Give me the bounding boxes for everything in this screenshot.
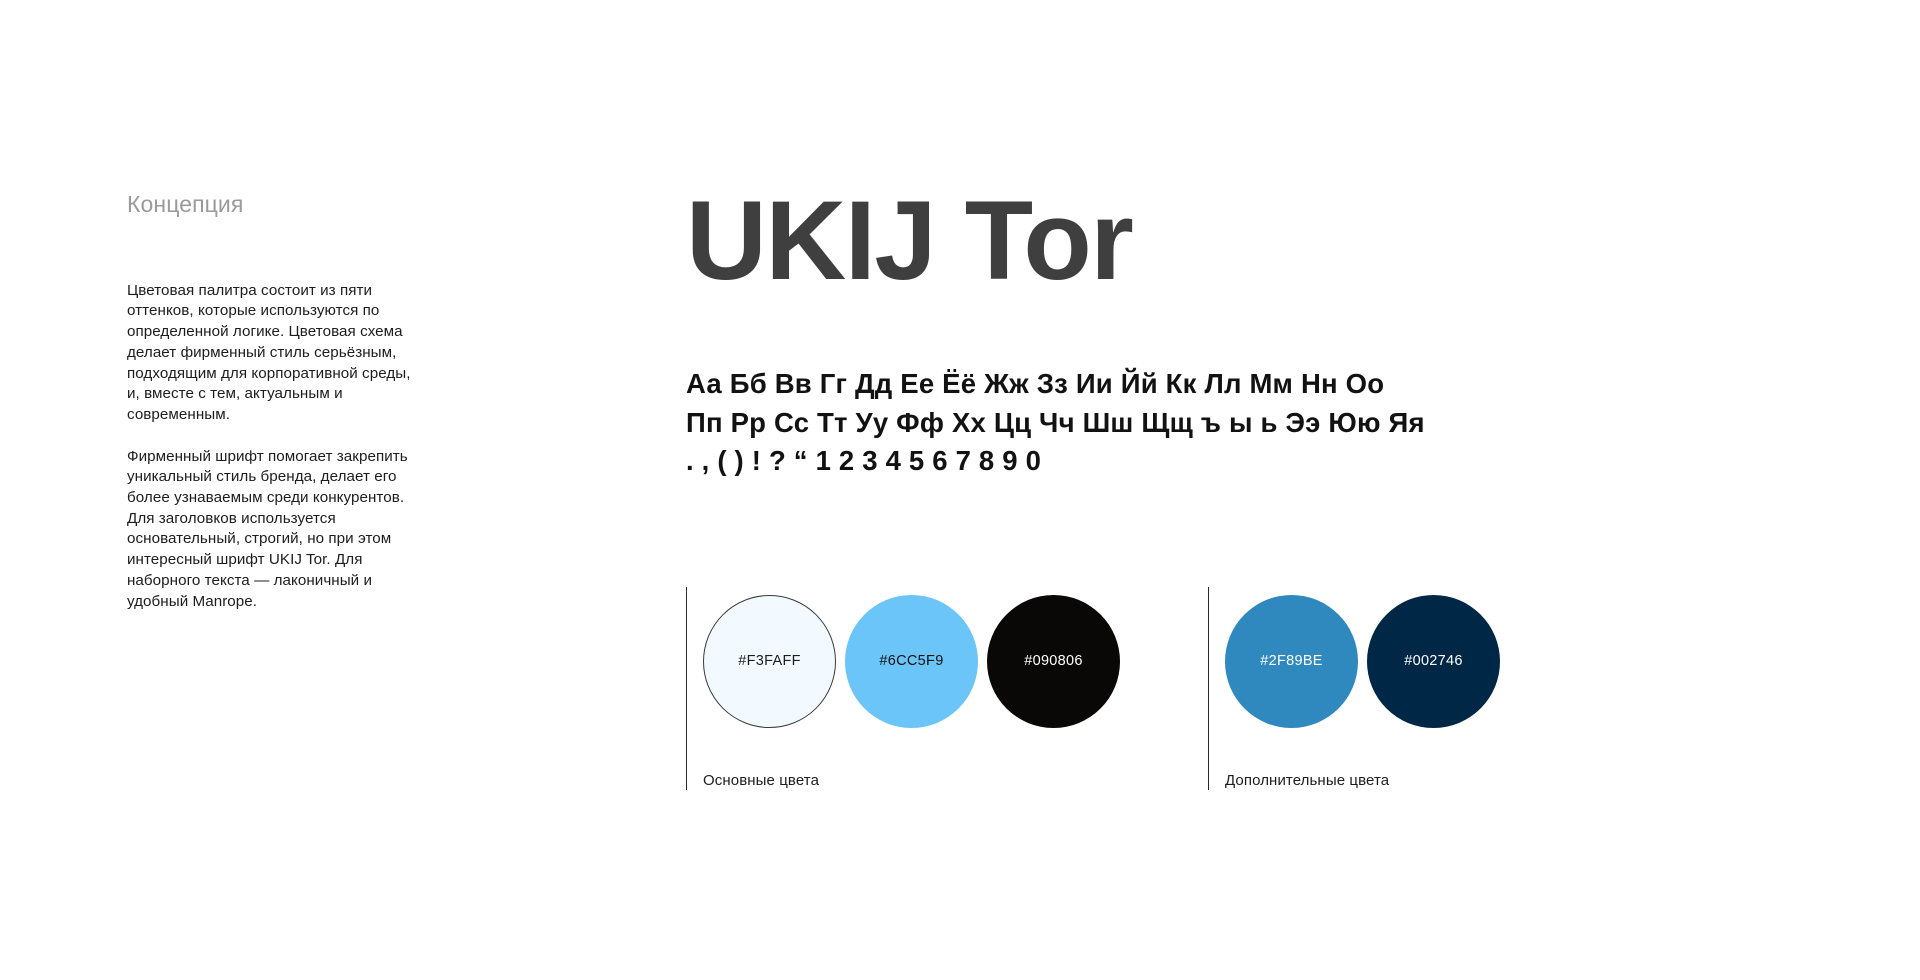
specimen-line-uppercase-1: Аа Бб Вв Гг Дд Ее Ёё Жж Зз Ии Йй Кк Лл М… — [686, 365, 1866, 404]
section-eyebrow: Концепция — [127, 190, 417, 219]
concept-paragraph-2: Фирменный шрифт помогает закрепить уника… — [127, 447, 417, 613]
typeface-specimen: Аа Бб Вв Гг Дд Ее Ёё Жж Зз Ии Йй Кк Лл М… — [686, 365, 1866, 481]
color-swatch-label: #090806 — [1024, 654, 1083, 669]
palette-group-secondary: #2F89BE #002746 Дополнительные цвета — [1208, 587, 1500, 790]
specimen-line-uppercase-2: Пп Рр Сс Тт Уу Фф Хх Цц Чч Шш Щщ ъ ы ь Э… — [686, 404, 1866, 443]
brand-guideline-board: Концепция Цветовая палитра состоит из пя… — [0, 0, 1920, 980]
palette-caption: Дополнительные цвета — [1225, 772, 1500, 790]
color-swatch[interactable]: #002746 — [1367, 595, 1500, 728]
palette-group-primary: #F3FAFF #6CC5F9 #090806 Основные цвета — [686, 587, 1120, 790]
specimen-line-punctuation-numerals: . , ( ) ! ? “ 1 2 3 4 5 6 7 8 9 0 — [686, 442, 1866, 481]
color-palettes: #F3FAFF #6CC5F9 #090806 Основные цвета #… — [686, 587, 1500, 790]
color-swatch[interactable]: #090806 — [987, 595, 1120, 728]
color-swatch[interactable]: #6CC5F9 — [845, 595, 978, 728]
concept-body: Цветовая палитра состоит из пяти оттенко… — [127, 281, 417, 613]
concept-paragraph-1: Цветовая палитра состоит из пяти оттенко… — [127, 281, 417, 426]
concept-column: Концепция Цветовая палитра состоит из пя… — [127, 190, 417, 612]
color-swatch[interactable]: #2F89BE — [1225, 595, 1358, 728]
swatch-row-secondary: #2F89BE #002746 — [1225, 587, 1500, 728]
color-swatch-label: #6CC5F9 — [879, 654, 943, 669]
typeface-title: UKIJ Tor — [686, 185, 1866, 297]
palette-caption: Основные цвета — [703, 772, 1120, 790]
color-swatch-label: #002746 — [1404, 654, 1463, 669]
color-swatch-label: #F3FAFF — [738, 654, 801, 669]
typeface-column: UKIJ Tor Аа Бб Вв Гг Дд Ее Ёё Жж Зз Ии Й… — [686, 185, 1866, 481]
swatch-row-primary: #F3FAFF #6CC5F9 #090806 — [703, 587, 1120, 728]
color-swatch-label: #2F89BE — [1260, 654, 1323, 669]
color-swatch[interactable]: #F3FAFF — [703, 595, 836, 728]
